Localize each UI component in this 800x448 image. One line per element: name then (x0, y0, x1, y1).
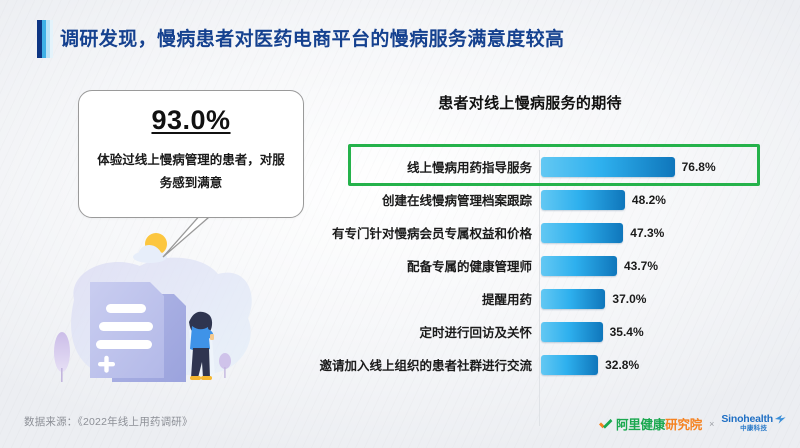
title-accent-bars (37, 20, 53, 58)
chart-bar-group: 35.4% (541, 315, 644, 348)
tree-small-icon (219, 353, 231, 378)
chart-value-label: 48.2% (632, 193, 666, 207)
sinohealth-logo-top: Sinohealth (721, 414, 786, 425)
check-mark-icon (598, 418, 613, 430)
chart-row: 有专门针对慢病会员专属权益和价格47.3% (340, 216, 770, 249)
tree-icon (54, 332, 70, 382)
chart-bar (541, 223, 623, 243)
chart-bar-group: 43.7% (541, 249, 658, 282)
slide-header: 调研发现，慢病患者对医药电商平台的慢病服务满意度较高 (0, 0, 800, 66)
chart-value-label: 47.3% (630, 226, 664, 240)
chart-category-label: 提醒用药 (482, 282, 532, 315)
chart-bar-group: 48.2% (541, 183, 666, 216)
highlight-box (348, 144, 760, 186)
sinohealth-mark-icon (775, 415, 786, 424)
chart-row: 邀请加入线上组织的患者社群进行交流32.8% (340, 348, 770, 381)
chart-title: 患者对线上慢病服务的期待 (340, 92, 720, 113)
chart-bar-group: 37.0% (541, 282, 646, 315)
chart-bar (541, 289, 605, 309)
chart-category-label: 有专门针对慢病会员专属权益和价格 (332, 216, 532, 249)
chart-row: 配备专属的健康管理师43.7% (340, 249, 770, 282)
sinohealth-logo-sub: 中康科技 (740, 426, 767, 433)
chart-bar (541, 256, 617, 276)
chart-value-label: 43.7% (624, 259, 658, 273)
alihealth-logo: 阿里健康研究院 (598, 414, 702, 433)
chart-bar-group: 47.3% (541, 216, 664, 249)
person-with-phone (189, 312, 215, 380)
chart-bar (541, 190, 625, 210)
alihealth-logo-green: 阿里健康 (616, 418, 665, 432)
footer-logos: 阿里健康研究院 × Sinohealth 中康科技 (598, 414, 786, 433)
chart-value-label: 32.8% (605, 358, 639, 372)
chart-value-label: 35.4% (610, 325, 644, 339)
chart-category-label: 配备专属的健康管理师 (407, 249, 532, 282)
chart-category-label: 邀请加入线上组织的患者社群进行交流 (319, 348, 532, 381)
sinohealth-logo: Sinohealth 中康科技 (721, 414, 786, 433)
chart-row: 提醒用药37.0% (340, 282, 770, 315)
callout-percent: 93.0% (79, 105, 303, 136)
alihealth-logo-text: 阿里健康研究院 (616, 414, 702, 433)
chart-value-label: 37.0% (612, 292, 646, 306)
chart-row: 创建在线慢病管理档案跟踪48.2% (340, 183, 770, 216)
chart-category-label: 定时进行回访及关怀 (419, 315, 532, 348)
chart-row: 定时进行回访及关怀35.4% (340, 315, 770, 348)
chart-bar (541, 322, 603, 342)
callout-description: 体验过线上慢病管理的患者，对服务感到满意 (97, 149, 285, 195)
chart-category-label: 创建在线慢病管理档案跟踪 (382, 183, 532, 216)
sinohealth-logo-name: Sinohealth (721, 414, 773, 425)
page-title: 调研发现，慢病患者对医药电商平台的慢病服务满意度较高 (60, 24, 564, 51)
expectation-bar-chart: 患者对线上慢病服务的期待 线上慢病用药指导服务76.8%创建在线慢病管理档案跟踪… (340, 92, 770, 392)
insight-callout-bubble: 93.0% 体验过线上慢病管理的患者，对服务感到满意 (78, 90, 304, 218)
data-source-note: 数据来源：《2022年线上用药调研》 (24, 414, 193, 429)
chart-bar-group: 32.8% (541, 348, 639, 381)
slide-canvas: 调研发现，慢病患者对医药电商平台的慢病服务满意度较高 (0, 0, 800, 448)
alihealth-logo-orange: 研究院 (665, 418, 702, 432)
logo-separator: × (709, 419, 714, 429)
chart-bar (541, 355, 598, 375)
document-stack-icon (90, 282, 186, 382)
